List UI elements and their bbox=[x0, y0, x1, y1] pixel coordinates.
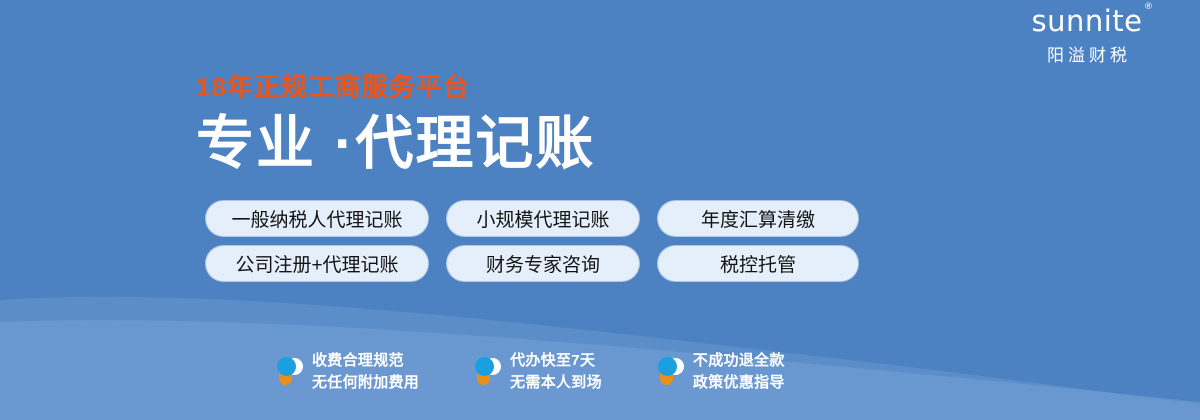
registered-trademark-icon: ® bbox=[1144, 3, 1154, 12]
service-pill-small-scale-bookkeeping[interactable]: 小规模代理记账 bbox=[447, 201, 639, 236]
feature-line-1: 收费合理规范 bbox=[312, 350, 419, 372]
service-pill-row: 一般纳税人代理记账 小规模代理记账 年度汇算清缴 bbox=[206, 201, 858, 236]
feature-text: 不成功退全款 政策优惠指导 bbox=[693, 350, 785, 394]
service-pill-row: 公司注册+代理记账 财务专家咨询 税控托管 bbox=[206, 246, 858, 281]
logo-chinese-name: 阳溢财税 bbox=[1002, 41, 1172, 66]
promo-banner: sunnite ® 阳溢财税 18年正规工商服务平台 专业 ·代理记账 一般纳税… bbox=[0, 0, 1200, 420]
feature-text: 收费合理规范 无任何附加费用 bbox=[312, 350, 419, 394]
moon-drop-icon bbox=[276, 356, 303, 388]
moon-drop-icon bbox=[474, 356, 501, 388]
service-pill-company-registration-bookkeeping[interactable]: 公司注册+代理记账 bbox=[206, 246, 428, 281]
service-pill-grid: 一般纳税人代理记账 小规模代理记账 年度汇算清缴 公司注册+代理记账 财务专家咨… bbox=[206, 201, 858, 281]
feature-item: 不成功退全款 政策优惠指导 bbox=[657, 350, 785, 394]
service-pill-finance-expert-consulting[interactable]: 财务专家咨询 bbox=[447, 246, 639, 281]
moon-drop-icon bbox=[657, 356, 684, 388]
service-pill-annual-tax-settlement[interactable]: 年度汇算清缴 bbox=[658, 201, 858, 236]
feature-line-2: 无需本人到场 bbox=[510, 372, 602, 394]
feature-list: 收费合理规范 无任何附加费用 代办快至7天 无需本人到场 不成功退全款 bbox=[276, 350, 785, 394]
hero-eyebrow: 18年正规工商服务平台 bbox=[196, 74, 470, 100]
brand-logo[interactable]: sunnite ® 阳溢财税 bbox=[1002, 6, 1172, 66]
feature-item: 代办快至7天 无需本人到场 bbox=[474, 350, 602, 394]
feature-item: 收费合理规范 无任何附加费用 bbox=[276, 350, 419, 394]
feature-line-2: 无任何附加费用 bbox=[312, 372, 419, 394]
logo-wordmark: sunnite ® bbox=[1031, 6, 1142, 36]
feature-line-1: 代办快至7天 bbox=[510, 350, 602, 372]
feature-text: 代办快至7天 无需本人到场 bbox=[510, 350, 602, 394]
feature-line-1: 不成功退全款 bbox=[693, 350, 785, 372]
hero-headline: 专业 ·代理记账 bbox=[196, 112, 595, 177]
logo-wordmark-text: sunnite bbox=[1031, 4, 1142, 38]
feature-line-2: 政策优惠指导 bbox=[693, 372, 785, 394]
service-pill-tax-control-custody[interactable]: 税控托管 bbox=[658, 246, 858, 281]
service-pill-general-taxpayer-bookkeeping[interactable]: 一般纳税人代理记账 bbox=[206, 201, 428, 236]
